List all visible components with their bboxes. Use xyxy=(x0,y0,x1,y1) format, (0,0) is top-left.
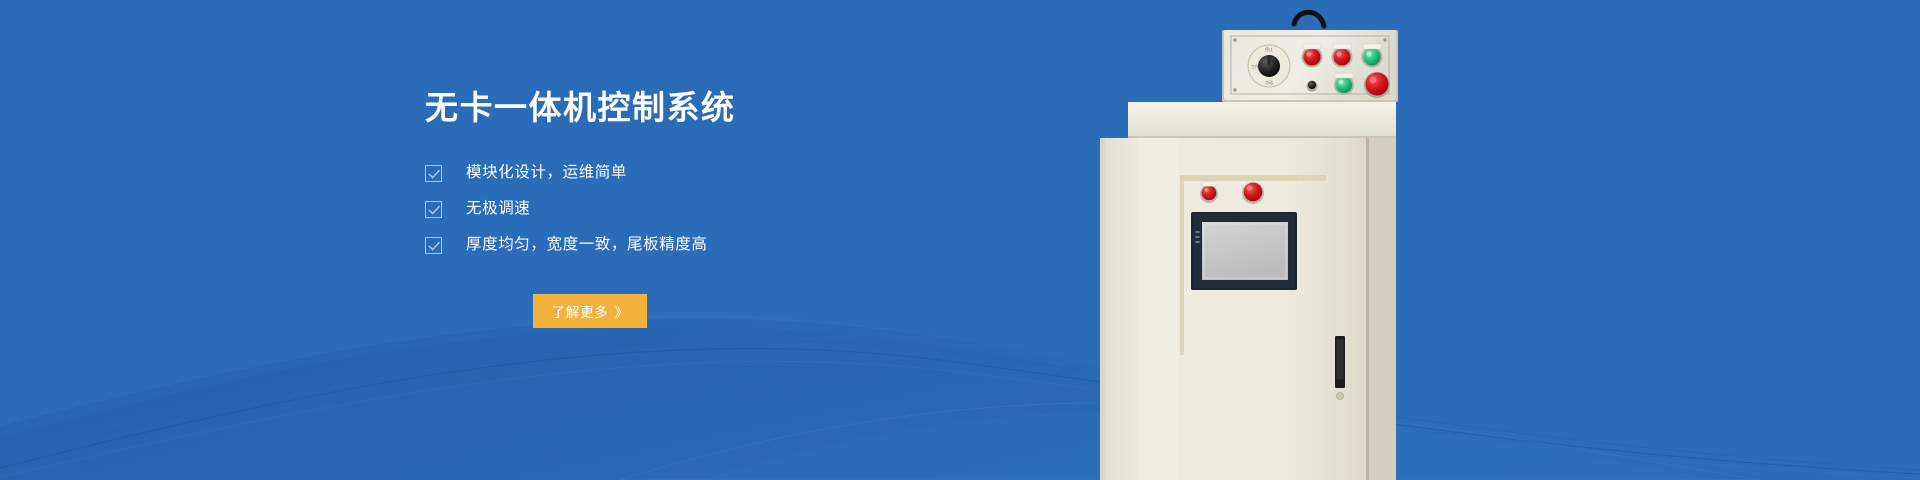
emergency-stop-red xyxy=(1366,73,1389,96)
door-indicator-red-2 xyxy=(1244,183,1263,202)
feature-label: 厚度均匀，宽度一致，尾板精度高 xyxy=(466,234,708,256)
page-title: 无卡一体机控制系统 xyxy=(425,86,965,130)
panel-recess-left xyxy=(1180,175,1184,355)
chevron-right-icon: 》 xyxy=(615,302,629,321)
cabinet-edge-line xyxy=(1366,138,1369,480)
door-lock xyxy=(1337,393,1344,400)
door-indicator-red-1 xyxy=(1202,186,1217,201)
svg-text:停止: 停止 xyxy=(1265,46,1273,52)
check-square-icon xyxy=(425,165,442,182)
cable xyxy=(1294,12,1324,26)
list-item: 无极调速 xyxy=(425,198,965,220)
check-square-icon xyxy=(425,237,442,254)
feature-label: 无极调速 xyxy=(466,198,530,220)
cabinet-side-panel xyxy=(1368,138,1396,480)
hero-content: 无卡一体机控制系统 模块化设计，运维简单 无极调速 xyxy=(425,86,965,328)
svg-text:工作: 工作 xyxy=(1251,63,1259,69)
indicator-red-2 xyxy=(1334,49,1351,66)
indicator-green-2 xyxy=(1336,77,1352,93)
cabinet-top-cap xyxy=(1128,102,1396,138)
indicator-green-1 xyxy=(1364,49,1381,66)
hero-banner: 无卡一体机控制系统 模块化设计，运维简单 无极调速 xyxy=(0,0,1920,480)
learn-more-button[interactable]: 了解更多 》 xyxy=(533,294,647,328)
small-black-button xyxy=(1308,81,1316,89)
control-cabinet-photo: 停止 工作 点动 xyxy=(1098,0,1498,480)
svg-text:点动: 点动 xyxy=(1265,79,1273,85)
list-item: 模块化设计，运维简单 xyxy=(425,162,965,184)
indicator-red-1 xyxy=(1304,49,1321,66)
feature-label: 模块化设计，运维简单 xyxy=(466,162,627,184)
check-square-icon xyxy=(425,201,442,218)
hmi-screen-area xyxy=(1202,222,1288,280)
learn-more-label: 了解更多 xyxy=(551,301,608,321)
feature-list: 模块化设计，运维简单 无极调速 厚度均匀，宽度一致，尾板精度高 xyxy=(425,162,965,256)
list-item: 厚度均匀，宽度一致，尾板精度高 xyxy=(425,234,965,256)
